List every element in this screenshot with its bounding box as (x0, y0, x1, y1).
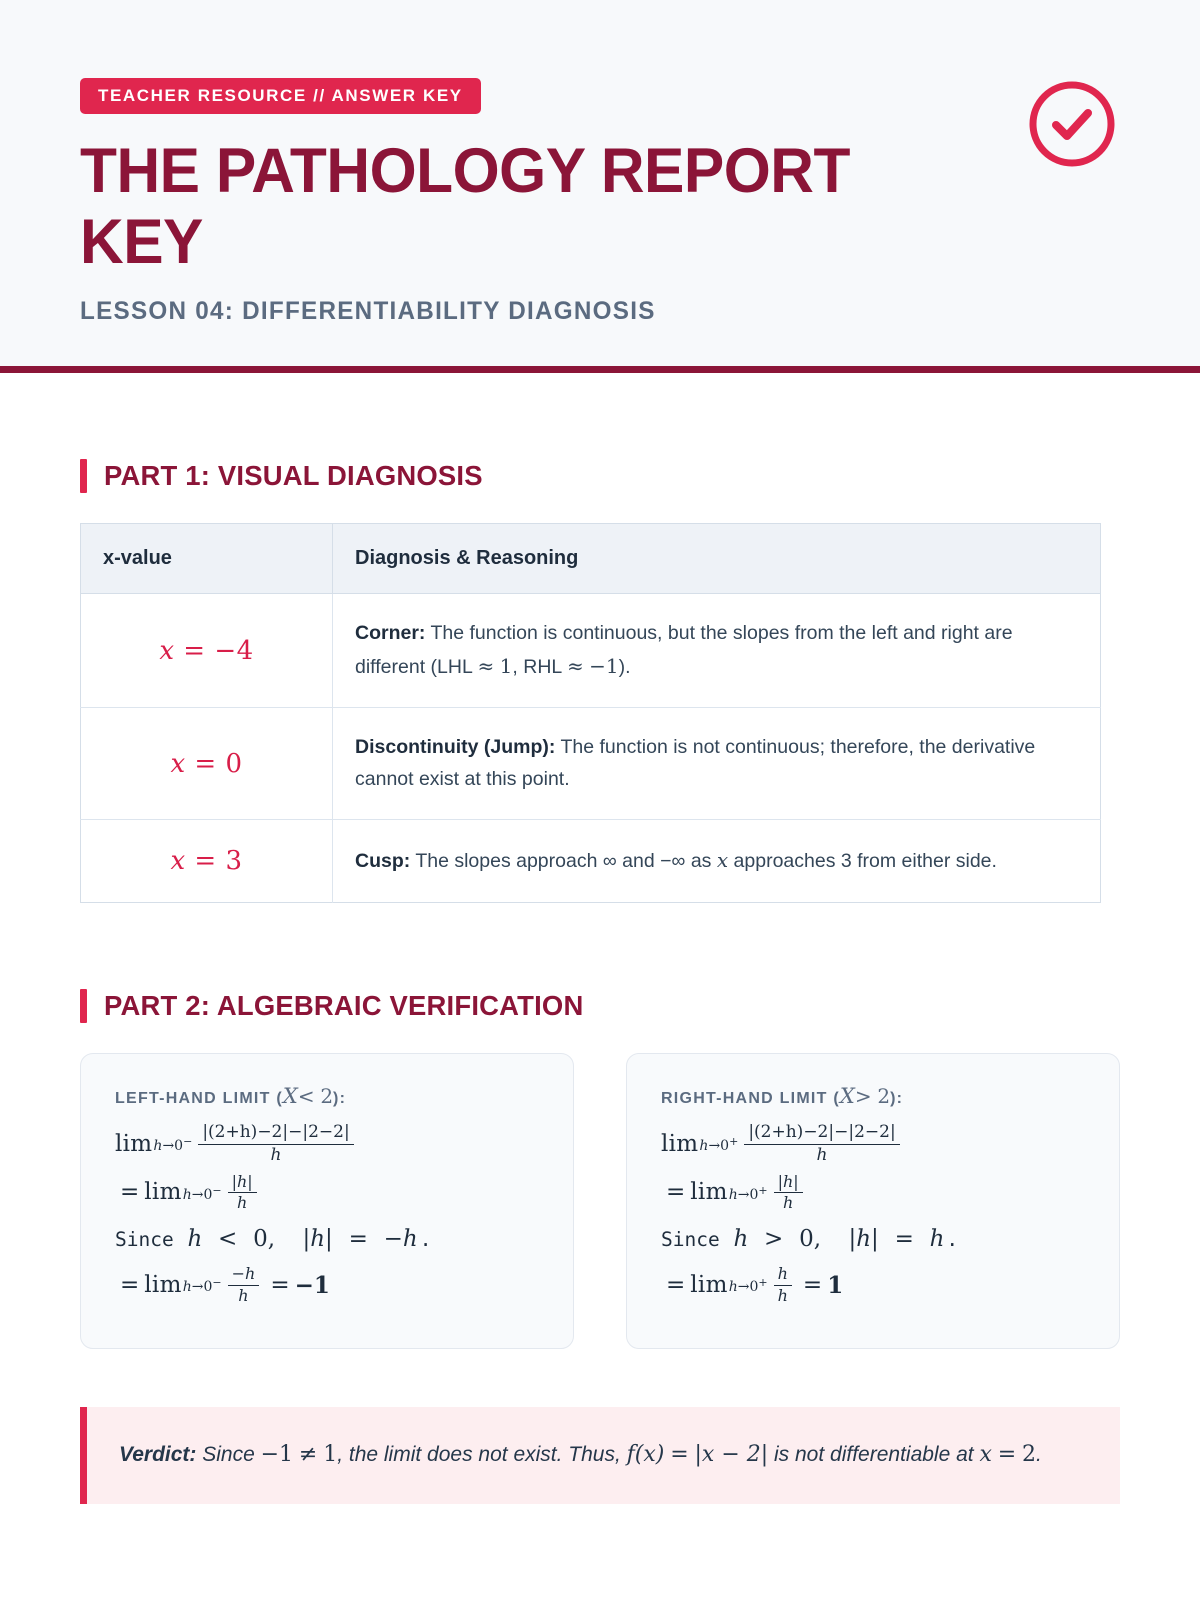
left-limit-line-1: limh→0− |(2+h)−2|−|2−2| h (115, 1124, 539, 1165)
diagnosis-term: Discontinuity (Jump): (355, 736, 555, 758)
table-row: x = 3 Cusp: The slopes approach ∞ and −∞… (81, 820, 1101, 903)
page-title: THE PATHOLOGY REPORT KEY (80, 136, 877, 277)
diagnosis-table: x-value Diagnosis & Reasoning x = −4 Cor… (80, 523, 1101, 903)
diagnosis-text: The function is continuous, but the slop… (355, 622, 1013, 678)
right-hand-limit-card: RIGHT-HAND LIMIT (X> 2): limh→0+ |(2+h)−… (626, 1053, 1120, 1349)
approx-sign-1: ≈ (477, 654, 494, 678)
left-limit-line-3: Since h < 0, |h| = −h. (115, 1221, 539, 1257)
approx-sign-2: ≈ (567, 654, 584, 678)
cell-x-value: x = 0 (81, 708, 333, 820)
cell-diagnosis: Cusp: The slopes approach ∞ and −∞ as x … (333, 820, 1101, 903)
verdict-minus-one: −1 (261, 1442, 293, 1467)
right-limit-line-2: =limh→0+ |h| h (661, 1174, 1085, 1213)
verdict-equals: = (670, 1442, 688, 1467)
lhl-value: 1 (500, 654, 513, 678)
column-header-x-value: x-value (81, 524, 333, 594)
verdict-term: Verdict: (119, 1443, 196, 1466)
verdict-callout: Verdict: Since −1 ≠ 1, the limit does no… (80, 1407, 1120, 1505)
math-x-equals-three: x = 3 (170, 846, 242, 876)
table-row: x = 0 Discontinuity (Jump): The function… (81, 708, 1101, 820)
verdict-not-equal: ≠ (299, 1442, 317, 1467)
verdict-text-2: , the limit does not exist. Thus, (337, 1443, 626, 1466)
diagnosis-term: Cusp: (355, 850, 410, 872)
math-X-right: X (840, 1084, 855, 1108)
part2-title: PART 2: ALGEBRAIC VERIFICATION (104, 990, 583, 1022)
cell-x-value: x = −4 (81, 594, 333, 708)
left-hand-limit-card: LEFT-HAND LIMIT (X< 2): limh→0− |(2+h)−2… (80, 1053, 574, 1349)
math-variable-x: x (717, 848, 728, 872)
table-header: x-value Diagnosis & Reasoning (81, 524, 1101, 594)
resource-badge: TEACHER RESOURCE // ANSWER KEY (80, 78, 481, 114)
verdict-x: x (979, 1442, 991, 1467)
page-content: PART 1: VISUAL DIAGNOSIS x-value Diagnos… (0, 459, 1200, 1504)
part2-section-header: PART 2: ALGEBRAIC VERIFICATION (80, 989, 1120, 1023)
math-X-left: X (283, 1084, 298, 1108)
diagnosis-text-end: ). (619, 656, 631, 678)
diagnosis-term: Corner: (355, 622, 425, 644)
answer-key-page: TEACHER RESOURCE // ANSWER KEY THE PATHO… (0, 0, 1200, 1600)
section-accent-bar (80, 989, 87, 1023)
right-card-label: RIGHT-HAND LIMIT (X> 2): (661, 1084, 1085, 1108)
part1-title: PART 1: VISUAL DIAGNOSIS (104, 460, 483, 492)
table-body: x = −4 Corner: The function is continuou… (81, 594, 1101, 903)
math-x-equals-minus-four: x = −4 (159, 636, 253, 666)
verdict-abs-expression: |x − 2| (695, 1442, 769, 1467)
verdict-two: 2 (1022, 1442, 1036, 1467)
math-rel-left: < (298, 1084, 315, 1108)
table-header-row: x-value Diagnosis & Reasoning (81, 524, 1101, 594)
page-header: TEACHER RESOURCE // ANSWER KEY THE PATHO… (0, 0, 1200, 373)
limit-cards-row: LEFT-HAND LIMIT (X< 2): limh→0− |(2+h)−2… (80, 1053, 1120, 1349)
diagnosis-text-mid: approaches 3 from either side. (728, 850, 997, 872)
right-limit-line-1: limh→0+ |(2+h)−2|−|2−2| h (661, 1124, 1085, 1165)
right-limit-line-4: =limh→0+ h h =1 (661, 1266, 1085, 1305)
cell-diagnosis: Corner: The function is continuous, but … (333, 594, 1101, 708)
left-limit-line-4: =limh→0− −h h =−1 (115, 1266, 539, 1305)
right-limit-line-3: Since h > 0, |h| = h. (661, 1221, 1085, 1257)
verdict-text-4: . (1036, 1443, 1042, 1466)
math-num-right: 2 (877, 1084, 890, 1108)
section-accent-bar (80, 459, 87, 493)
diagnosis-text: The slopes approach ∞ and −∞ as (410, 850, 717, 872)
cell-x-value: x = 3 (81, 820, 333, 903)
math-num-left: 2 (320, 1084, 333, 1108)
diagnosis-text-mid: , RHL (512, 656, 567, 678)
left-card-label: LEFT-HAND LIMIT (X< 2): (115, 1084, 539, 1108)
math-rel-right: > (855, 1084, 872, 1108)
part1-section-header: PART 1: VISUAL DIAGNOSIS (80, 459, 1120, 493)
math-x-equals-zero: x = 0 (170, 749, 242, 779)
verdict-text-3: is not differentiable at (768, 1443, 979, 1466)
table-row: x = −4 Corner: The function is continuou… (81, 594, 1101, 708)
page-subtitle: LESSON 04: DIFFERENTIABILITY DIAGNOSIS (80, 297, 1089, 326)
verdict-one: 1 (323, 1442, 337, 1467)
verdict-text-1: Since (196, 1443, 260, 1466)
rhl-value: −1 (589, 654, 618, 678)
verdict-equals-2: = (998, 1442, 1016, 1467)
cell-diagnosis: Discontinuity (Jump): The function is no… (333, 708, 1101, 820)
left-limit-line-2: =limh→0− |h| h (115, 1174, 539, 1213)
verdict-function: f(x) (627, 1442, 665, 1467)
column-header-diagnosis: Diagnosis & Reasoning (333, 524, 1101, 594)
circle-check-icon (1026, 78, 1118, 170)
